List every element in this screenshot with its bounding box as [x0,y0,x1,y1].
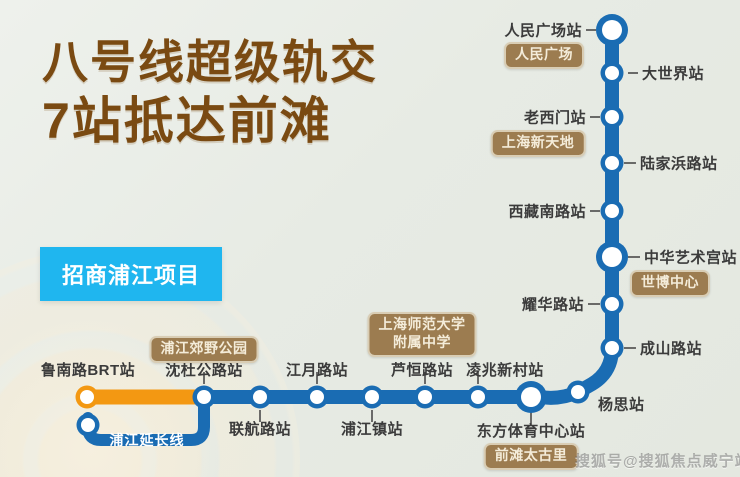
poi-line-2: 附属中学 [379,334,466,352]
station-label-chengshan-lu: 成山路站 [640,338,702,359]
poi-badge-shanghai-xintiandi: 上海新天地 [491,130,586,157]
station-label-zhonghua-yishugong: 中华艺术宫站 [644,247,737,268]
station-label-pujiangzhen: 浦江镇站 [341,418,403,439]
station-label-jiangyue-lu: 江月路站 [286,359,348,380]
poi-badge-qiantan-taikooli: 前滩太古里 [484,443,579,470]
station-label-dongfang-tiyu-zhongxin: 东方体育中心站 [477,420,586,441]
station-label-laoximen: 老西门站 [524,107,586,128]
poi-line-1: 上海师范大学 [379,316,466,334]
station-label-lujiabang-lu: 陆家浜路站 [640,153,718,174]
station-label-lianhang-lu: 联航路站 [229,418,291,439]
poi-badge-shanghai-shifan-daxue-fushu-zhongxue: 上海师范大学 附属中学 [368,312,477,357]
station-label-renmin-guangchang: 人民广场站 [504,20,582,41]
poi-badge-renmin-guangchang: 人民广场 [504,42,584,69]
station-label-yangsi: 杨思站 [598,394,645,415]
station-label-dashijie: 大世界站 [642,63,704,84]
station-label-lunan-lu-brt: 鲁南路BRT站 [41,359,135,380]
station-label-lingzhao-xincun: 凌兆新村站 [466,359,544,380]
branch-line-tag: 浦江延长线 [110,430,185,450]
station-label-luheng-lu: 芦恒路站 [391,359,453,380]
watermark-text: 搜狐号@搜狐焦点威宁站 [575,450,740,471]
metro-line-infographic: 八号线超级轨交 7站抵达前滩 招商浦江项目 [0,0,740,477]
station-label-xizang-nan-lu: 西藏南路站 [508,201,586,222]
poi-badge-shibo-zhongxin: 世博中心 [630,270,710,297]
station-label-yaohua-lu: 耀华路站 [522,294,584,315]
poi-badge-pujiang-jiaoye-gongyuan: 浦江郊野公园 [150,336,259,363]
